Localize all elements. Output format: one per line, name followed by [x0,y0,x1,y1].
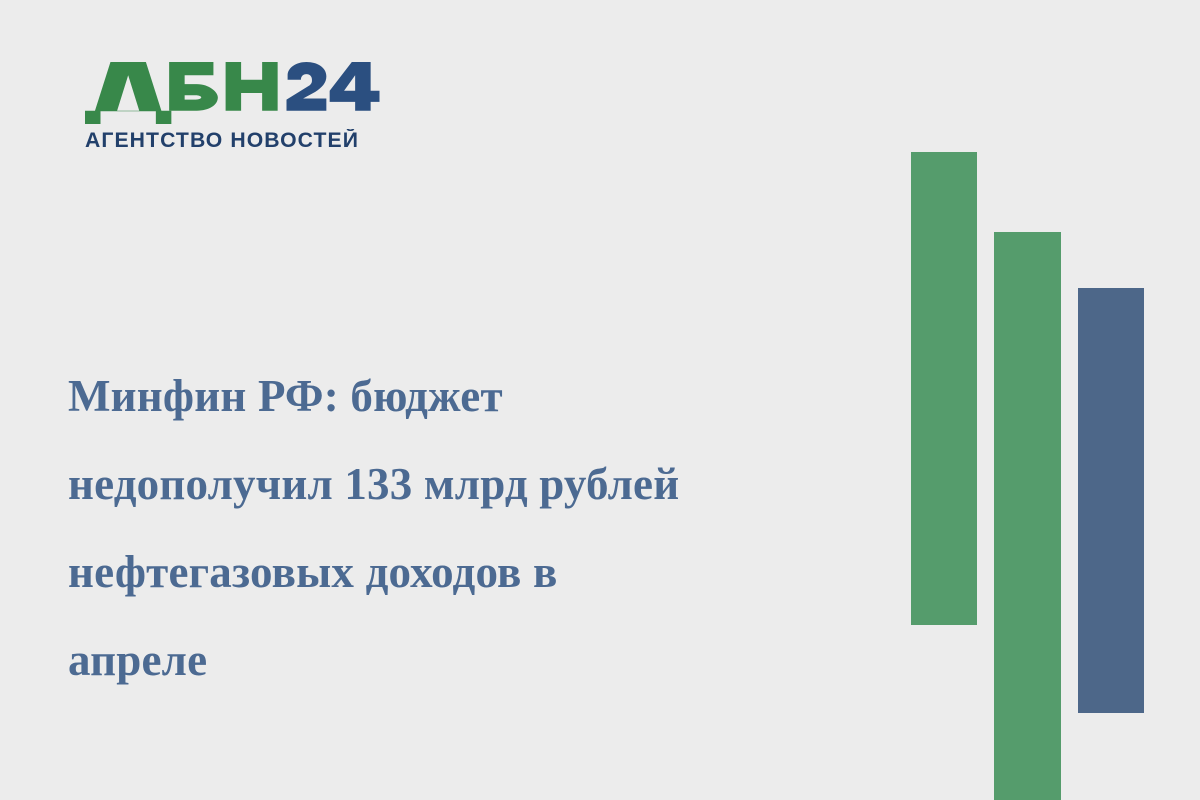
headline-line-3: нефтегазовых доходов в [68,528,868,616]
decorative-bar-1 [911,152,977,625]
logo-tagline-text: АГЕНТСТВО НОВОСТЕЙ [85,129,359,152]
headline-line-2: недополучил 133 млрд рублей [68,440,868,528]
logo-wordmark [85,62,386,124]
logo-tagline: АГЕНТСТВО НОВОСТЕЙ [85,129,414,152]
news-card: АГЕНТСТВО НОВОСТЕЙ Минфин РФ: бюджет нед… [0,0,1200,800]
headline-line-1: Минфин РФ: бюджет [68,352,868,440]
decorative-bar-3 [1078,288,1144,713]
abn24-logo[interactable]: АГЕНТСТВО НОВОСТЕЙ [85,62,385,152]
decorative-bar-2 [994,232,1061,800]
headline-line-4: апреле [68,616,868,704]
headline: Минфин РФ: бюджет недополучил 133 млрд р… [68,352,868,704]
